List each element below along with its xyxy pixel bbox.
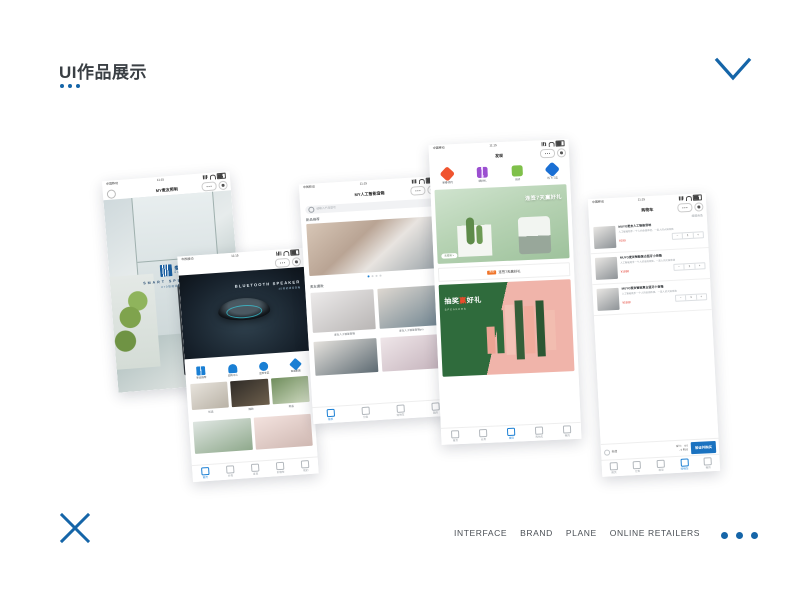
search-icon [308,207,314,213]
tab-label: 购物车 [535,435,543,439]
cart-icon [535,426,543,434]
tab-label: 我的 [303,469,308,473]
signal-icon [412,179,417,183]
signal-icon [679,196,684,200]
search-placeholder: 请输入产品型号 [316,207,336,212]
bottom-tab-bar[interactable]: 首页 分类 购物车 我的 [312,399,453,425]
compass-icon [657,459,665,467]
tab-label: 首页 [611,471,616,475]
status-time: 11:15 [231,255,239,259]
user-icon [563,425,571,433]
tab-home[interactable]: 首页 [201,467,210,480]
nav-title: MY麦友照明 [156,186,178,193]
category-label: 新春预约 [442,181,453,185]
product-image [230,379,269,408]
lottery-title-part-c: 好礼 [467,297,482,305]
category-label: 新品推荐 [196,376,206,380]
heart-icon [440,166,456,182]
category-item[interactable]: 新品推荐 [196,366,207,380]
brand-logo-icon [160,265,173,278]
status-indicators [541,141,564,147]
status-carrier: 中国移动 [433,147,445,151]
product-caption: 爆款 [232,406,269,412]
tab-label: 发现 [658,469,663,473]
tab-label: 分类 [635,470,640,474]
status-time: 11:15 [638,198,645,202]
select-all-label: 全选 [611,450,617,454]
compass-icon [251,463,260,472]
tab-home[interactable]: 首页 [326,409,335,422]
product-card[interactable]: 新品 [271,376,310,409]
quantity-stepper[interactable]: − 1 + [673,263,705,272]
activity-badge: 活动 [487,270,496,275]
status-carrier: 中国移动 [181,258,193,263]
tab-profile[interactable]: 我的 [431,402,440,415]
bottom-tab-bar[interactable]: 首页 分类 发现 购物车 我的 [192,456,319,482]
tab-label: 分类 [481,438,486,441]
tab-profile[interactable]: 我的 [704,457,713,470]
cart-item-price: ¥1888 [622,301,631,305]
product-image [271,376,310,405]
wifi-icon [418,178,424,183]
category-item[interactable]: 团购中心 [227,364,238,378]
more-icon [201,182,217,192]
quantity-stepper[interactable]: − 1 + [672,232,704,241]
speaker-product-photo [518,216,551,254]
home-icon [451,430,459,438]
close-x-icon[interactable] [58,511,92,545]
tab-label: 分类 [228,474,233,478]
signal-icon [542,142,547,146]
footer-nav[interactable]: INTERFACE BRAND PLANE ONLINE RETAILERS [454,528,700,538]
cart-icon [680,458,688,466]
tab-category[interactable]: 分类 [633,461,642,474]
tab-home[interactable]: 首页 [451,430,460,443]
phone-mockup-catalog[interactable]: 中国移动 11:15 MY人工智能音箱 [299,176,453,424]
nav-title: 购物车 [641,207,653,213]
gift-icon [196,366,206,376]
total-points: - 0 积分 [676,448,688,452]
hero-subtitle: 3D智能语音音箱 [278,286,300,291]
close-circle-icon [218,181,228,191]
product-caption: 新品 [273,403,310,409]
feature-banner[interactable] [193,418,253,454]
product-caption: 优选 [192,409,229,415]
close-circle-icon [694,202,703,211]
product-card[interactable]: 麦友人工智能音箱pro [377,285,443,333]
phone-mockup-discover[interactable]: 中国移动 11:15 发现 [429,139,582,445]
lottery-banner-title: 抽奖赢好礼 [444,297,482,307]
location-pin-icon [544,162,560,178]
tab-label: 我的 [433,411,438,415]
lottery-title-part-a: 抽奖 [444,298,459,306]
tab-profile[interactable]: 我的 [563,425,572,438]
product-image [310,289,375,333]
qty-value: 1 [685,295,696,300]
tab-cart[interactable]: 购物车 [680,458,689,471]
product-grid[interactable]: 麦友人工智能音箱 麦友人工智能音箱pro [310,285,442,338]
category-label: 线下门店 [547,177,558,181]
home-icon [326,409,334,417]
qty-decrease-button[interactable]: − [676,296,686,301]
category-label: 测评 [515,178,521,182]
product-image [377,285,442,329]
more-icon [275,258,291,268]
nav-title: MY人工智能音箱 [354,190,384,197]
window-capsule[interactable] [677,202,703,212]
cactus-photo [457,213,493,257]
slide-canvas: UI作品展示 中国移动 11:15 MY麦友照明 [0,0,808,600]
user-icon [431,402,439,410]
product-thumbnail [593,226,616,249]
user-icon [301,460,310,469]
tab-category[interactable]: 分类 [361,407,370,420]
tab-profile[interactable]: 我的 [301,460,310,473]
phone-mockup-gallery: 中国移动 11:15 MY麦友照明 [0,0,808,600]
product-card[interactable]: 优选 [190,381,229,414]
category-item[interactable]: 团购专区 [259,362,270,376]
cart-item[interactable]: MUYO麦友智能复古蓝牙小音箱 人工智能助手一个人的全周体验，一家人的大屏体验 … [592,279,711,316]
tab-label: 购物车 [681,467,689,471]
more-icon [677,203,692,212]
status-indicators [679,195,702,202]
activity-text: 连签7天赢好礼 [498,269,520,274]
buy-button[interactable]: 验证并购买 [691,441,717,454]
qty-increase-button[interactable]: + [694,264,705,269]
product-thumbnail [597,288,620,311]
phone-mockup-home[interactable]: BLUETOOTH SPEAKER 3D智能语音音箱 中国移动 11:15 MY… [177,248,318,482]
wifi-icon [548,141,554,146]
category-item[interactable]: 高端配置 [290,359,301,373]
category-label: 团购专区 [259,372,269,376]
grid-icon [361,407,369,415]
tab-category[interactable]: 分类 [479,429,488,442]
tab-home[interactable]: 首页 [609,462,618,475]
grid-icon [633,461,641,469]
grid-icon [479,429,487,437]
category-item[interactable]: 晒好礼 [477,167,489,184]
category-label: 晒好礼 [479,180,487,184]
qty-decrease-button[interactable]: − [674,265,684,270]
status-time: 11:15 [157,179,165,183]
product-card[interactable]: 爆款 [230,379,269,412]
tab-label: 首页 [453,439,458,442]
gift-icon [477,167,488,178]
battery-icon [693,195,702,201]
footer-link-plane[interactable]: PLANE [566,528,597,538]
3d-shapes-illustration [484,296,569,371]
tab-label: 首页 [328,418,333,422]
product-image[interactable] [313,338,378,376]
compass-icon [507,428,515,436]
window-capsule[interactable] [540,148,566,158]
footer-link-brand[interactable]: BRAND [520,528,553,538]
tab-label: 购物车 [277,471,285,475]
category-item[interactable]: 测评 [511,165,523,182]
wifi-icon [283,250,289,255]
tab-discover[interactable]: 发现 [507,428,516,441]
select-all-checkbox[interactable]: 全选 [604,449,617,456]
tab-cart[interactable]: 购物车 [276,462,285,475]
product-grid-secondary[interactable] [313,334,445,376]
footer-link-online-retailers[interactable]: ONLINE RETAILERS [610,528,700,538]
home-icon [201,467,210,476]
status-carrier: 中国移动 [303,186,315,190]
tab-discover[interactable]: 发现 [657,459,666,472]
footer-link-interface[interactable]: INTERFACE [454,528,507,538]
category-label: 团购中心 [228,374,238,378]
cart-icon [396,404,404,412]
close-circle-icon [557,148,566,157]
cart-totals: 合计： ¥ 0 - 0 积分 [676,445,688,453]
user-icon [704,457,712,465]
qty-increase-button[interactable]: + [692,233,703,238]
category-item[interactable]: 新春预约 [442,168,454,185]
nav-title: MY麦友商城 [230,262,252,269]
phone-mockup-cart[interactable]: 中国移动 11:15 购物车 编辑商品 [588,193,720,477]
battery-icon [217,173,226,179]
promo-banner-signin[interactable]: 连签7天赢好礼 去签到 > [434,185,569,265]
signal-icon [276,251,281,255]
leaf-icon [511,165,522,176]
window-capsule[interactable] [275,257,302,268]
battery-icon [290,249,299,255]
quantity-stepper[interactable]: − 1 + [675,294,707,303]
tab-label: 首页 [203,476,208,480]
grid-icon [226,465,235,474]
category-item[interactable]: 线下门店 [546,164,558,181]
product-thumbnail [595,257,618,280]
promo-banner-lottery[interactable]: 抽奖赢好礼 SPEAKERS [439,279,575,377]
cart-icon [228,364,238,374]
cart-icon [276,462,285,471]
tab-discover[interactable]: 发现 [251,463,260,476]
lottery-banner-subtitle: SPEAKERS [445,307,467,311]
tab-category[interactable]: 分类 [226,465,235,478]
status-time: 11:15 [360,182,368,186]
product-card[interactable]: 麦友人工智能音箱 [310,289,376,337]
carousel-banner[interactable] [306,216,439,276]
battery-icon [555,141,564,147]
signin-button[interactable]: 去签到 > [441,253,457,259]
product-image [190,381,229,410]
more-icon [410,186,425,195]
nav-title: 发现 [495,153,503,158]
tab-label: 我的 [706,466,711,470]
feature-banner-row[interactable] [193,414,313,454]
tab-label: 发现 [509,437,514,440]
qty-increase-button[interactable]: + [696,295,707,300]
tab-label: 我的 [565,434,570,437]
tab-cart[interactable]: 购物车 [396,404,405,417]
wifi-icon [685,195,691,200]
tab-label: 发现 [253,472,258,476]
status-time: 11:15 [489,144,496,148]
tab-label: 分类 [363,416,368,420]
feature-banner[interactable] [253,414,313,450]
menu-icon[interactable] [107,189,117,199]
close-circle-icon [292,257,302,267]
radio-icon [604,449,610,455]
wifi-icon [209,174,215,179]
status-carrier: 中国移动 [106,182,118,187]
status-carrier: 中国移动 [592,201,604,205]
home-icon [609,462,617,470]
qty-value: 1 [684,264,695,269]
flower-icon [259,362,269,372]
activity-list-item[interactable]: 活动 连签7天赢好礼 [438,263,570,282]
cart-item-price: ¥199 [619,239,626,243]
qty-value: 1 [682,233,693,238]
more-icon [540,149,555,158]
qty-decrease-button[interactable]: − [673,234,683,239]
cart-item-price: ¥1888 [621,270,630,274]
tab-cart[interactable]: 购物车 [535,426,544,439]
bottom-tab-bar[interactable]: 首页 分类 发现 购物车 我的 [441,422,582,445]
product-image[interactable] [380,334,445,372]
signal-icon [203,175,208,179]
footer-dots[interactable] [721,532,758,539]
tab-label: 购物车 [397,413,405,417]
promo-banner-title: 连签7天赢好礼 [525,195,562,203]
